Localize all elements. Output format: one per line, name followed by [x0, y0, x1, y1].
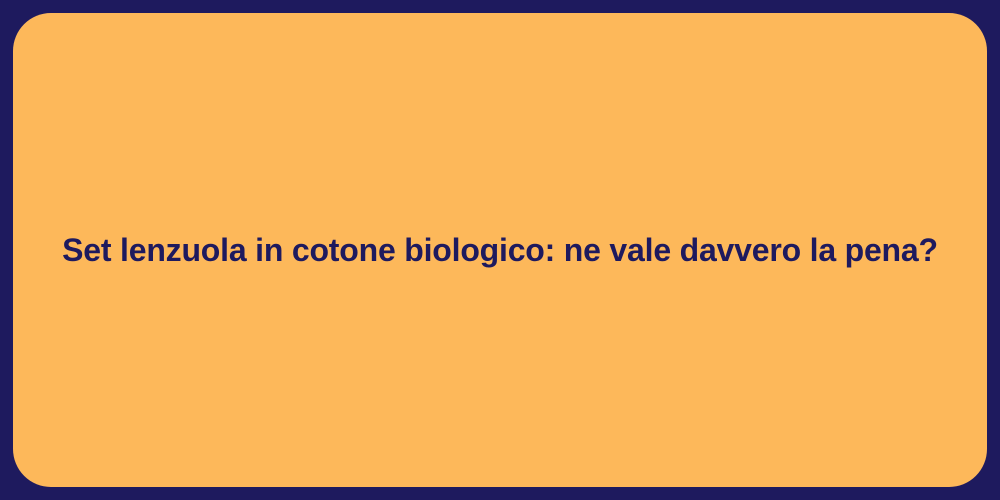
- banner-outer-frame: Set lenzuola in cotone biologico: ne val…: [0, 0, 1000, 500]
- banner-card: Set lenzuola in cotone biologico: ne val…: [13, 13, 987, 487]
- banner-title: Set lenzuola in cotone biologico: ne val…: [22, 230, 978, 270]
